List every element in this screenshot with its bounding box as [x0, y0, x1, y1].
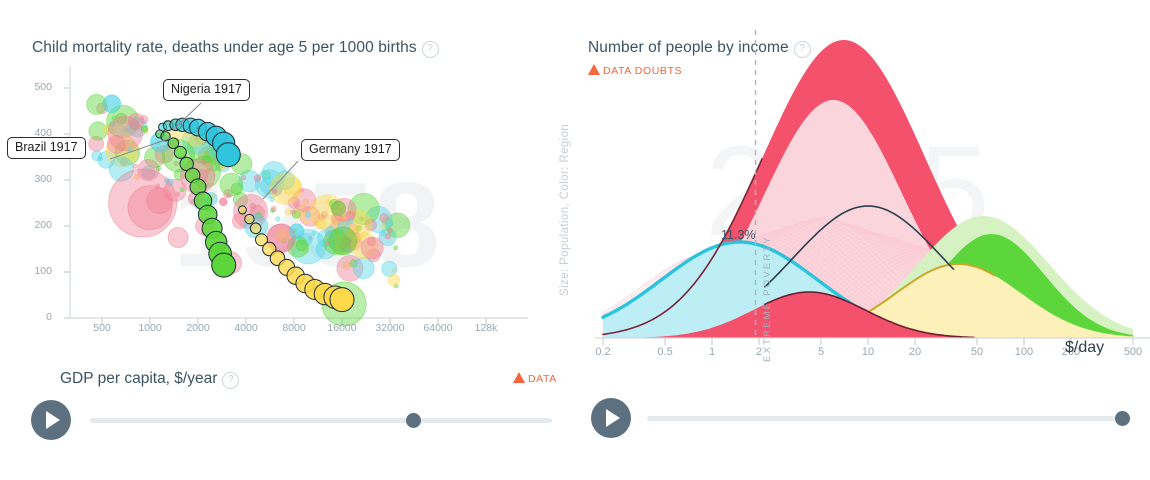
bubble-point[interactable] — [289, 224, 304, 239]
left-chart-title-text: Child mortality rate, deaths under age 5… — [32, 39, 417, 56]
bubble-point[interactable] — [276, 217, 281, 222]
extreme-poverty-label: EXTREME POVERTY — [762, 235, 773, 362]
bubble-point[interactable] — [220, 198, 228, 206]
dollar-per-day-label: $/day — [1065, 339, 1104, 357]
trail-bubble-germany[interactable] — [330, 288, 354, 312]
bubble-point[interactable] — [103, 95, 121, 113]
timeline-slider-handle-left[interactable] — [406, 413, 421, 428]
poverty-percentage-label: 11.3% — [721, 228, 756, 242]
right-x-tick-500: 500 — [1103, 346, 1150, 358]
y-tick-100: 100 — [22, 265, 52, 277]
data-warning-left-text: DATA — [528, 373, 557, 385]
x-axis-help-icon[interactable]: ? — [222, 372, 239, 389]
bubble-point[interactable] — [394, 246, 398, 250]
right-x-tick-20: 20 — [885, 346, 945, 358]
mountain-chart-svg: 2015 — [585, 30, 1150, 360]
timeline-slider-handle-right[interactable] — [1115, 411, 1130, 426]
left-chart-title: Child mortality rate, deaths under age 5… — [32, 39, 439, 58]
tooltip-brazil[interactable]: Brazil 1917 — [7, 137, 86, 159]
bubble-point-large[interactable] — [147, 188, 173, 214]
left-x-axis-title: GDP per capita, $/year? — [60, 370, 239, 389]
y-tick-300: 300 — [22, 173, 52, 185]
bubble-point[interactable] — [272, 189, 277, 194]
bubble-point[interactable] — [254, 175, 261, 182]
bubble-point-large[interactable] — [168, 228, 188, 248]
mountain-chart-panel: Number of people by income? DATA DOUBTS … — [575, 0, 1150, 480]
trail-bubble-nigeria[interactable] — [216, 143, 240, 167]
y-tick-0: 0 — [22, 311, 52, 323]
left-x-axis-title-text: GDP per capita, $/year — [60, 370, 217, 387]
help-icon[interactable]: ? — [422, 41, 439, 58]
bubble-point[interactable] — [141, 126, 147, 132]
bubble-chart-svg: 1958 — [58, 66, 528, 354]
trail-bubble-germany[interactable] — [245, 214, 254, 223]
right-x-tick-0.2: 0.2 — [573, 346, 633, 358]
bubble-point[interactable] — [381, 225, 386, 230]
bubble-point[interactable] — [331, 201, 346, 216]
tooltip-germany[interactable]: Germany 1917 — [301, 139, 400, 161]
y-axis-ticks — [64, 88, 70, 318]
bubble-chart-panel: Child mortality rate, deaths under age 5… — [0, 0, 575, 480]
tooltip-nigeria[interactable]: Nigeria 1917 — [163, 79, 250, 101]
bubble-point[interactable] — [98, 157, 102, 161]
bubble-point[interactable] — [353, 258, 374, 279]
bubble-point[interactable] — [305, 212, 311, 218]
play-triangle-icon — [46, 411, 60, 429]
timeline-slider-left[interactable] — [90, 418, 552, 423]
warning-triangle-icon — [513, 372, 525, 383]
right-x-axis-ticks — [603, 338, 1133, 345]
bubble-point[interactable] — [388, 274, 400, 286]
right-x-tick-2: 2 — [729, 346, 789, 358]
bubble-point[interactable] — [271, 206, 276, 211]
x-tick-128k: 128k — [456, 322, 516, 334]
bubble-point[interactable] — [329, 227, 357, 255]
bubble-point[interactable] — [220, 173, 243, 196]
bubble-point[interactable] — [291, 210, 296, 215]
y-tick-200: 200 — [22, 219, 52, 231]
trail-bubble-brazil[interactable] — [174, 146, 186, 158]
y-tick-500: 500 — [22, 81, 52, 93]
play-triangle-icon-right — [606, 409, 620, 427]
bubble-point[interactable] — [140, 116, 148, 124]
trail-bubble-germany[interactable] — [250, 223, 261, 234]
bubble-point[interactable] — [361, 237, 383, 259]
bubble-point[interactable] — [241, 175, 246, 180]
bubble-point[interactable] — [381, 231, 386, 236]
mountain-plot-area[interactable]: 2015 0.20.5125102050100200500 — [585, 30, 1150, 360]
bubble-point[interactable] — [270, 173, 301, 204]
play-button-right[interactable] — [591, 398, 631, 438]
bubble-point[interactable] — [108, 116, 143, 151]
bubble-plot-area[interactable]: 1958 — [58, 66, 528, 354]
trail-bubble-germany[interactable] — [238, 206, 246, 214]
income-distribution-areas[interactable] — [603, 40, 1133, 338]
bubble-point[interactable] — [380, 214, 389, 223]
trail-bubble-brazil[interactable] — [212, 253, 236, 277]
bubble-point[interactable] — [133, 164, 137, 168]
bubble-point[interactable] — [348, 219, 353, 224]
size-color-encoding-label: Size: Population, Color: Region — [559, 124, 571, 296]
bubble-point[interactable] — [180, 188, 184, 192]
bubble-point[interactable] — [388, 228, 392, 232]
timeline-slider-right[interactable] — [647, 416, 1122, 421]
bubble-point[interactable] — [156, 166, 161, 171]
bubble-point[interactable] — [304, 220, 308, 224]
data-warning-left[interactable]: DATA — [513, 372, 557, 385]
play-button-left[interactable] — [31, 400, 71, 440]
